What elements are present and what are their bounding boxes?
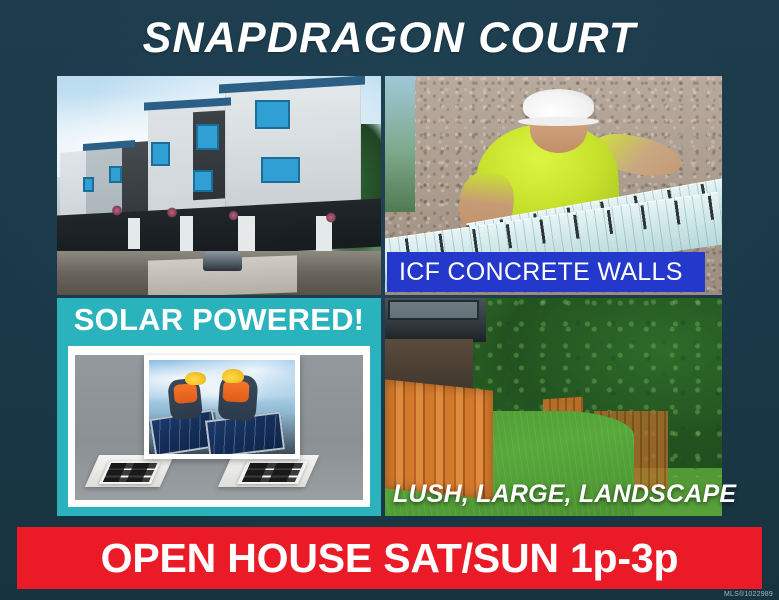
open-house-text: OPEN HOUSE SAT/SUN 1p-3p <box>101 535 679 582</box>
window <box>193 170 212 192</box>
solar-label-banner: SOLAR POWERED! <box>57 298 381 342</box>
window <box>109 166 122 184</box>
open-house-banner: OPEN HOUSE SAT/SUN 1p-3p <box>17 527 762 589</box>
window <box>261 157 300 183</box>
mls-watermark: MLS®1022989 <box>724 591 773 598</box>
solar-installers-photo <box>149 360 295 454</box>
panel-model-left <box>98 461 160 484</box>
background-foliage <box>385 76 415 212</box>
window <box>196 124 219 150</box>
safety-vest-left <box>173 383 198 404</box>
panel-model-right <box>237 461 308 484</box>
hard-hat-icon <box>222 369 244 383</box>
parked-car <box>203 251 242 271</box>
landscape-label-banner: LUSH, LARGE, LANDSCAPE <box>387 477 722 511</box>
window <box>151 142 170 166</box>
flower-basket <box>326 212 336 223</box>
panel-cell-grid <box>241 462 303 482</box>
solar-grey-backdrop <box>75 355 363 500</box>
photo-cell-townhouse[interactable] <box>57 76 381 295</box>
window <box>255 100 291 128</box>
entry-door <box>180 216 193 253</box>
landscape-label-text: LUSH, LARGE, LANDSCAPE <box>393 480 736 509</box>
balcony-railing <box>388 300 479 320</box>
icf-label-banner: ICF CONCRETE WALLS <box>387 252 705 292</box>
flower-basket <box>229 210 239 221</box>
flower-basket <box>112 205 122 216</box>
photo-grid <box>57 76 722 516</box>
hard-hat-icon <box>185 372 205 385</box>
window <box>83 177 94 192</box>
icf-label-text: ICF CONCRETE WALLS <box>399 258 683 287</box>
entry-door <box>128 218 139 249</box>
poster-title-bar: SNAPDRAGON COURT <box>0 8 779 68</box>
entry-door <box>238 216 254 255</box>
solar-label-text: SOLAR POWERED! <box>74 302 364 338</box>
townhouse-dark-siding-2 <box>122 141 151 213</box>
panel-cell-grid <box>102 462 156 482</box>
safety-vest-right <box>223 381 250 403</box>
solar-inset-frame <box>144 355 300 459</box>
listing-poster: SNAPDRAGON COURT <box>0 0 779 600</box>
page-title: SNAPDRAGON COURT <box>143 14 637 63</box>
townhouse-exterior-image <box>57 76 381 295</box>
